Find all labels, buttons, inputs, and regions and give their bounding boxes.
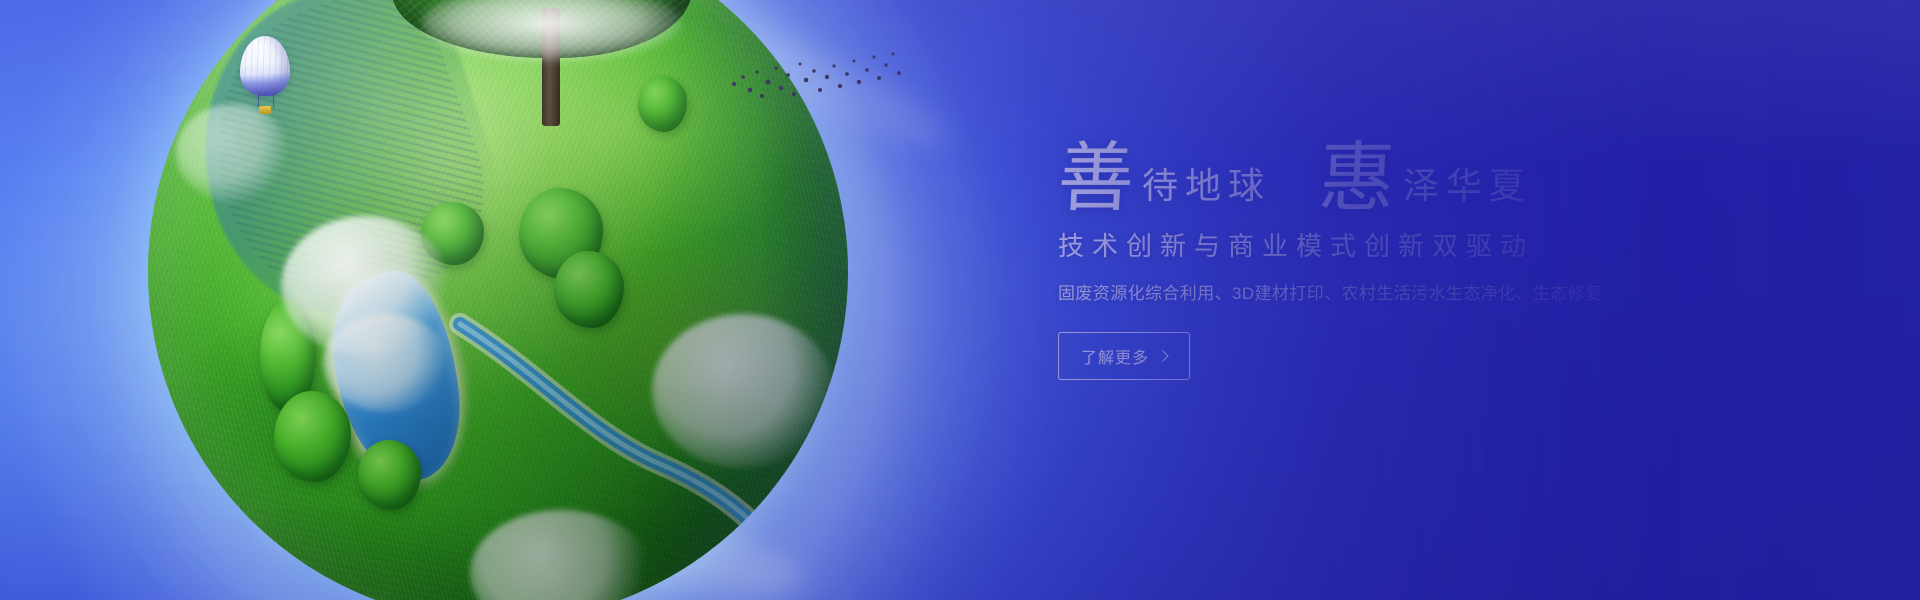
learn-more-label: 了解更多 (1081, 344, 1149, 368)
headline-lead-char-2: 惠 (1317, 140, 1405, 216)
headline-phrase-1: 善 待地球 (1058, 140, 1271, 216)
hero-banner: 善 待地球 惠 泽华夏 技术创新与商业模式创新双驱动 固废资源化综合利用、3D建… (0, 0, 1920, 600)
headline-lead-char-1: 善 (1056, 140, 1144, 216)
hero-content: 善 待地球 惠 泽华夏 技术创新与商业模式创新双驱动 固废资源化综合利用、3D建… (1058, 140, 1758, 380)
headline-rest-chars-1: 待地球 (1142, 169, 1271, 205)
mist-icon (422, 0, 682, 62)
tree-icon (392, 0, 692, 128)
headline-rest-chars-2: 泽华夏 (1403, 169, 1532, 205)
cloud-icon (652, 314, 834, 468)
tree-clump (554, 251, 624, 328)
tree-clump (274, 391, 351, 482)
page-description: 固废资源化综合利用、3D建材打印、农村生活污水生态净化、生态修复 (1058, 282, 1758, 306)
cloud-icon (323, 314, 449, 412)
balloon-envelope (240, 36, 290, 96)
birds-icon (726, 44, 906, 114)
chevron-right-icon (1157, 350, 1168, 361)
page-subtitle: 技术创新与商业模式创新双驱动 (1058, 230, 1758, 264)
page-title: 善 待地球 惠 泽华夏 (1058, 140, 1758, 216)
learn-more-button[interactable]: 了解更多 (1058, 332, 1190, 380)
hot-air-balloon-icon (240, 36, 296, 120)
tree-clump (358, 440, 421, 510)
balloon-basket (259, 106, 271, 114)
headline-phrase-2: 惠 泽华夏 (1319, 140, 1532, 216)
